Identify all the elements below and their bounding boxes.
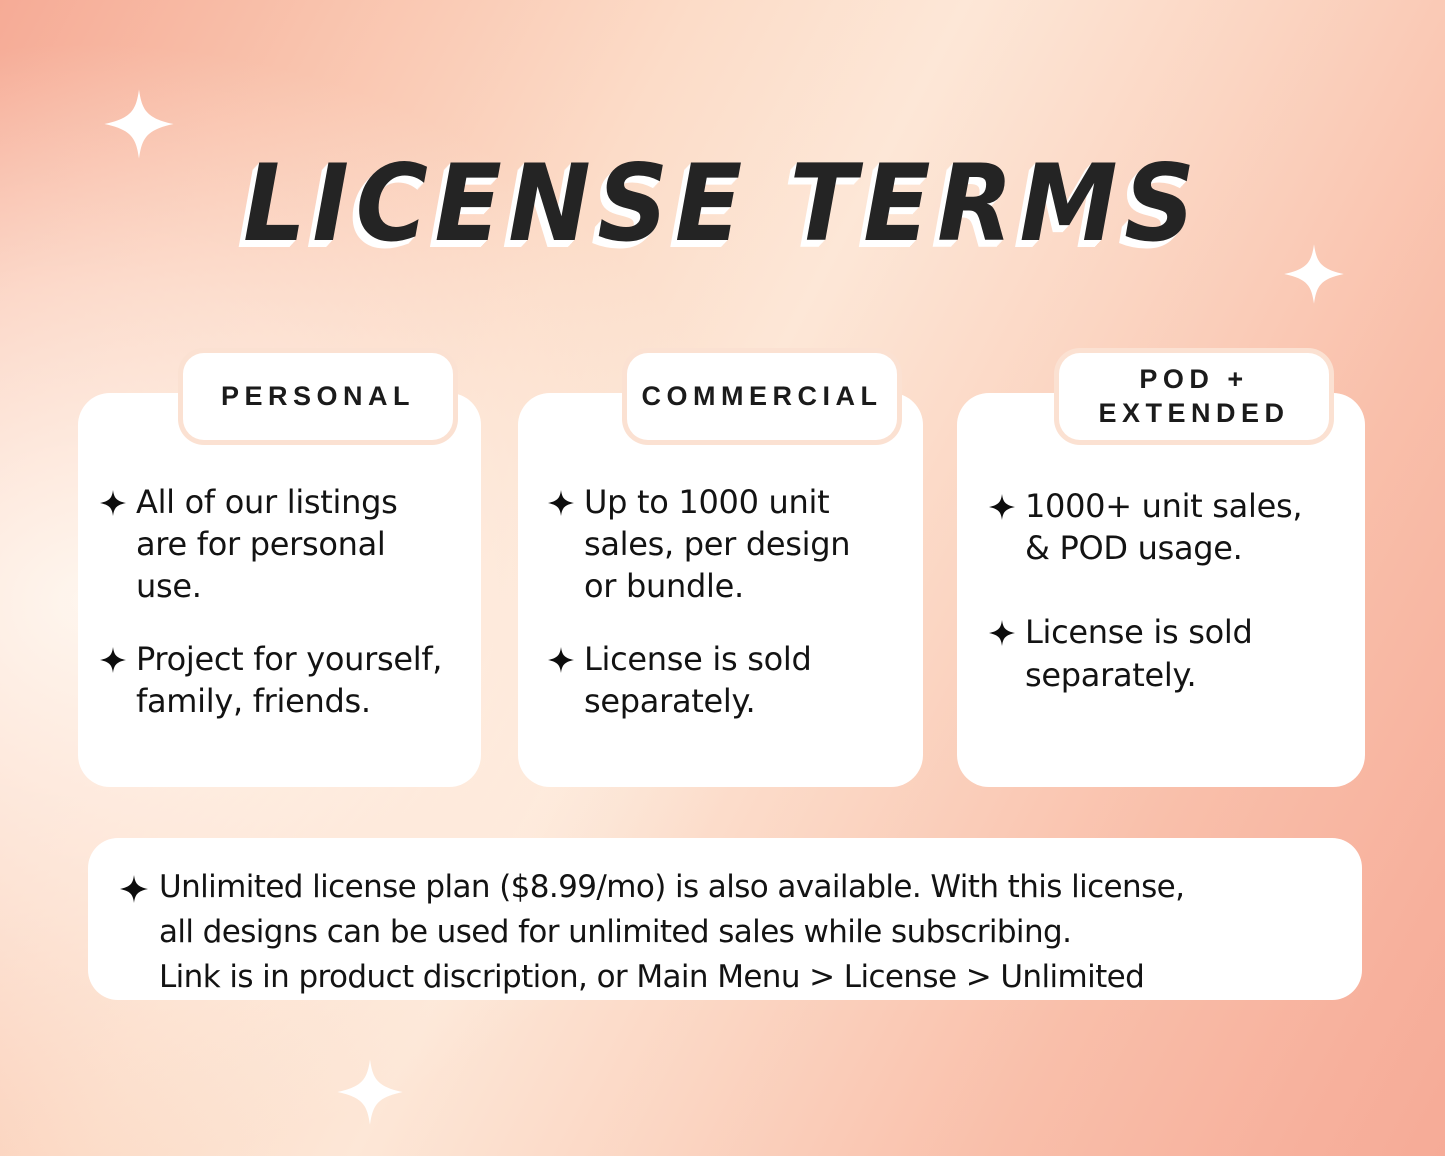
plan-card-body-personal: All of our listings are for personal use… bbox=[78, 481, 481, 722]
plan-card-title-pod-extended: POD + EXTENDED bbox=[1098, 363, 1289, 430]
list-item-text: License is sold separately. bbox=[1025, 611, 1253, 695]
plan-card-header-personal: PERSONAL bbox=[178, 348, 458, 445]
license-terms-graphic: LICENSE TERMS PERSONAL All of our listin… bbox=[0, 0, 1445, 1156]
four-point-sparkle-icon bbox=[548, 490, 574, 516]
plan-card-personal: PERSONAL All of our listings are for per… bbox=[78, 393, 481, 787]
list-item: Up to 1000 unit sales, per design or bun… bbox=[548, 481, 907, 608]
unlimited-plan-banner-text: Unlimited license plan ($8.99/mo) is als… bbox=[159, 865, 1184, 1000]
plan-card-title-personal: PERSONAL bbox=[221, 380, 415, 413]
plan-card-header-pod-extended: POD + EXTENDED bbox=[1054, 348, 1334, 445]
list-item: License is sold separately. bbox=[989, 611, 1349, 695]
four-point-sparkle-icon bbox=[548, 647, 574, 673]
four-point-sparkle-icon bbox=[100, 490, 126, 516]
plan-card-commercial: COMMERCIAL Up to 1000 unit sales, per de… bbox=[518, 393, 923, 787]
list-item: License is sold separately. bbox=[548, 638, 907, 722]
list-item-text: License is sold separately. bbox=[584, 638, 812, 722]
four-point-sparkle-icon bbox=[100, 647, 126, 673]
plan-card-body-commercial: Up to 1000 unit sales, per design or bun… bbox=[518, 481, 923, 722]
list-item-text: Project for yourself, family, friends. bbox=[136, 638, 442, 722]
plan-card-header-commercial: COMMERCIAL bbox=[622, 348, 902, 445]
list-item-text: 1000+ unit sales, & POD usage. bbox=[1025, 485, 1302, 569]
plan-card-body-pod-extended: 1000+ unit sales, & POD usage. License i… bbox=[957, 485, 1365, 696]
four-point-sparkle-icon bbox=[120, 875, 148, 903]
unlimited-plan-banner: Unlimited license plan ($8.99/mo) is als… bbox=[88, 838, 1362, 1000]
list-item: Project for yourself, family, friends. bbox=[100, 638, 467, 722]
unlimited-plan-banner-inner: Unlimited license plan ($8.99/mo) is als… bbox=[88, 838, 1362, 1000]
list-item: All of our listings are for personal use… bbox=[100, 481, 467, 608]
plan-card-pod-extended: POD + EXTENDED 1000+ unit sales, & POD u… bbox=[957, 393, 1365, 787]
list-item-text: Up to 1000 unit sales, per design or bun… bbox=[584, 481, 850, 608]
plan-card-title-commercial: COMMERCIAL bbox=[642, 380, 883, 413]
list-item: 1000+ unit sales, & POD usage. bbox=[989, 485, 1349, 569]
list-item-text: All of our listings are for personal use… bbox=[136, 481, 398, 608]
four-point-sparkle-icon bbox=[989, 494, 1015, 520]
four-point-sparkle-icon bbox=[989, 620, 1015, 646]
